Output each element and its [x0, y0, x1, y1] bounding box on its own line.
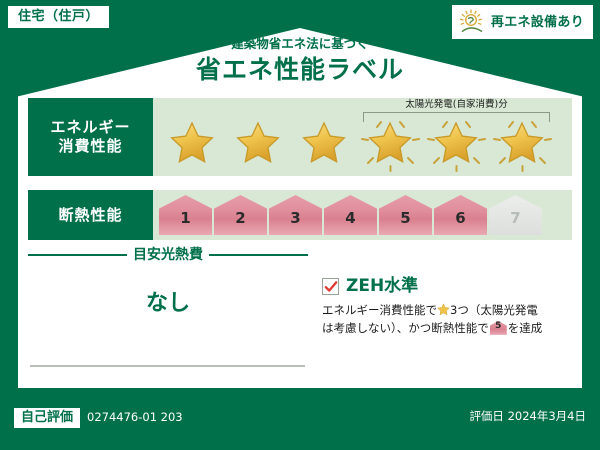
zeh-title-row: ZEH水準	[322, 278, 572, 295]
star-icon	[498, 120, 546, 166]
house-grade-number: 7	[510, 209, 520, 235]
zeh-desc-part2: は考慮しない）、かつ断熱性能で	[322, 321, 489, 335]
building-type-badge: 住宅（住戸）	[8, 6, 109, 28]
sun-renewable-icon	[458, 9, 486, 35]
cost-rule-right	[209, 254, 308, 256]
label-footer: 自己評価 0274476-01 203 評価日 2024年3月4日	[0, 394, 600, 450]
star-icon	[234, 120, 282, 166]
zeh-desc-part1: エネルギー消費性能で	[322, 303, 437, 317]
star-solar	[425, 114, 488, 172]
cost-section-divider	[30, 365, 305, 367]
insulation-header-label: 断熱性能	[58, 206, 122, 225]
insulation-grade-1: 1	[159, 195, 212, 235]
star-solar	[491, 114, 554, 172]
zeh-desc-part3: を達成	[508, 321, 543, 335]
inline-house-level: 5	[490, 321, 507, 335]
inline-star-icon	[437, 303, 450, 316]
insulation-grade-4: 4	[324, 195, 377, 235]
energy-performance-header: エネルギー 消費性能	[28, 98, 153, 176]
energy-stars-area: 太陽光発電(自家消費)分	[153, 98, 572, 176]
house-grade-number: 1	[180, 209, 190, 235]
star-icon	[366, 120, 414, 166]
star-base	[227, 114, 290, 172]
label-subtitle: 建築物省エネ法に基づく	[0, 38, 600, 51]
inline-house-icon: 5	[490, 321, 507, 335]
insulation-performance-header: 断熱性能	[28, 190, 153, 240]
label-title: 省エネ性能ラベル	[0, 56, 600, 84]
insulation-grade-3: 3	[269, 195, 322, 235]
star-icon	[432, 120, 480, 166]
self-evaluation-tag: 自己評価	[14, 408, 80, 428]
insulation-grade-6: 6	[434, 195, 487, 235]
house-grade-number: 5	[400, 209, 410, 235]
star-base	[293, 114, 356, 172]
insulation-grade-group: 1234567	[153, 195, 542, 235]
renewable-badge-label: 再エネ設備あり	[491, 16, 584, 29]
house-grade-number: 4	[345, 209, 355, 235]
evaluation-date: 評価日 2024年3月4日	[469, 411, 586, 423]
zeh-checkbox[interactable]	[322, 278, 339, 295]
self-evaluation-number: 0274476-01 203	[87, 412, 183, 424]
zeh-title: ZEH水準	[346, 278, 418, 295]
solar-portion-label: 太陽光発電(自家消費)分	[402, 100, 510, 110]
insulation-grade-7: 7	[489, 195, 542, 235]
house-grade-number: 3	[290, 209, 300, 235]
zeh-desc-star-count: 3つ（太陽光発電	[450, 303, 538, 317]
energy-header-line1: エネルギー	[50, 118, 130, 137]
star-icon	[168, 120, 216, 166]
house-grade-number: 2	[235, 209, 245, 235]
star-solar	[359, 114, 422, 172]
cost-rule-left	[28, 254, 127, 256]
star-base	[161, 114, 224, 172]
utility-cost-title: 目安光熱費	[133, 248, 203, 262]
insulation-grade-2: 2	[214, 195, 267, 235]
energy-performance-row: エネルギー 消費性能 太陽光発電(自家消費)分	[28, 98, 572, 176]
star-icon	[300, 120, 348, 166]
energy-performance-label: 住宅（住戸） 再エネ設備あり	[0, 0, 600, 450]
insulation-grade-5: 5	[379, 195, 432, 235]
zeh-description: エネルギー消費性能で 3つ（太陽光発電 は考慮しない）、かつ断熱性能で 5 を達…	[322, 302, 572, 338]
zeh-block: ZEH水準 エネルギー消費性能で 3つ（太陽光発電 は考慮しない）、かつ断熱性能…	[322, 278, 572, 338]
insulation-houses-area: 1234567	[153, 190, 572, 240]
insulation-performance-row: 断熱性能 1234567	[28, 190, 572, 240]
utility-cost-heading: 目安光熱費	[28, 248, 308, 262]
energy-header-line2: 消費性能	[58, 137, 122, 156]
house-grade-number: 6	[455, 209, 465, 235]
renewable-equipment-badge: 再エネ設備あり	[452, 5, 593, 39]
self-evaluation-group: 自己評価 0274476-01 203	[14, 408, 183, 428]
check-icon	[324, 280, 338, 294]
utility-cost-value: なし	[28, 285, 308, 317]
star-rating-group	[153, 114, 554, 172]
